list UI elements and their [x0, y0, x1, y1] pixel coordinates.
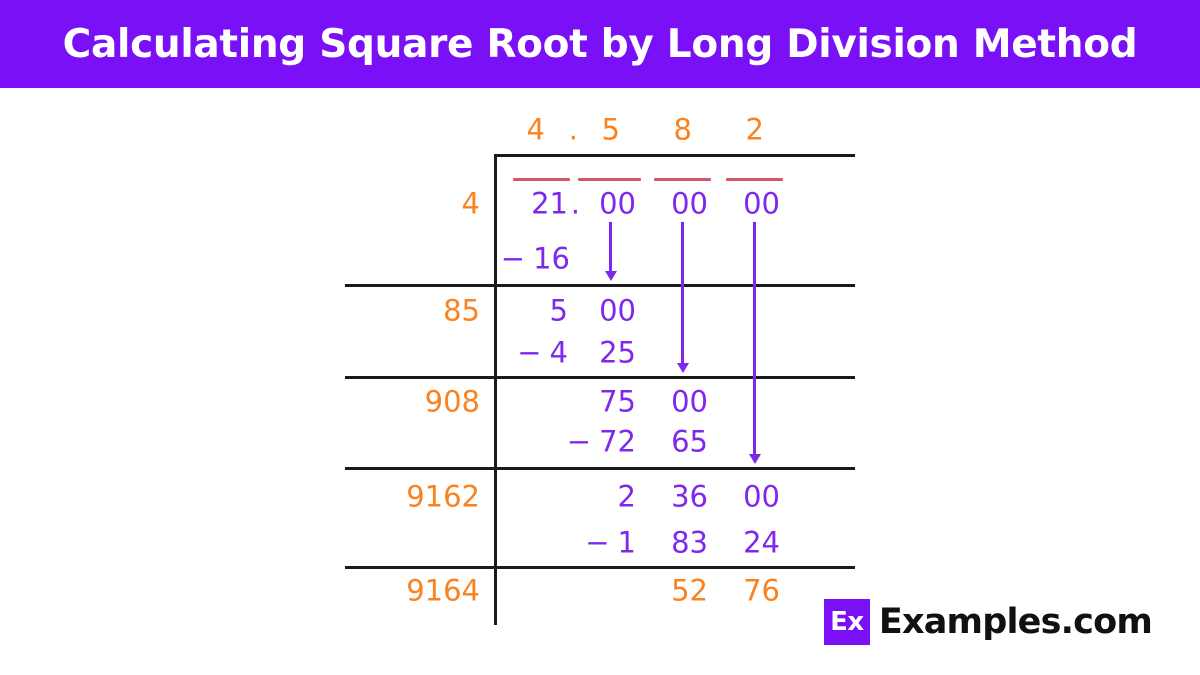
step-2-subtrahend-c2: 25 — [578, 339, 636, 368]
step-2-remainder-c2: 00 — [578, 297, 636, 326]
step-4-subtrahend-c2: −1 — [572, 529, 636, 558]
step-2-minus-sign: − — [517, 336, 541, 370]
digit-pair-overbar-2 — [578, 178, 641, 181]
step-4-subtrahend-c4: 24 — [722, 529, 780, 558]
bring-down-arrow-2 — [681, 222, 684, 364]
step-rule-2 — [345, 376, 855, 379]
digit-pair-overbar-1 — [513, 178, 570, 181]
step-4-minus-sign: − — [585, 526, 609, 560]
logo-wordmark: Examples.com — [879, 602, 1152, 642]
long-division-worksheet: 4 . 5 8 2 21 . 00 00 00 4 85 908 9162 91… — [0, 88, 1200, 675]
digit-pair-overbar-4 — [726, 178, 783, 181]
final-remainder-c4: 76 — [722, 577, 780, 606]
step-rule-4 — [345, 566, 855, 569]
step-4-subtrahend-value: 1 — [618, 526, 636, 560]
dividend-group-2: 00 — [578, 190, 636, 219]
dividend-group-3: 00 — [650, 190, 708, 219]
step-4-remainder-c3: 36 — [650, 483, 708, 512]
divisor-step-5: 9164 — [360, 577, 480, 606]
divisor-step-4: 9162 — [360, 483, 480, 512]
quotient-digit-2: 5 — [580, 116, 620, 145]
digit-pair-overbar-3 — [654, 178, 711, 181]
step-1-subtrahend: −16 — [495, 245, 570, 274]
bring-down-arrow-1 — [609, 222, 612, 272]
final-remainder-c3: 52 — [650, 577, 708, 606]
quotient-digit-3: 8 — [652, 116, 692, 145]
page-title: Calculating Square Root by Long Division… — [63, 22, 1138, 67]
header-banner: Calculating Square Root by Long Division… — [0, 0, 1200, 88]
step-3-remainder-c2: 75 — [578, 388, 636, 417]
division-bracket-vertical-rule — [494, 154, 497, 625]
step-3-subtrahend-c2: −72 — [565, 428, 636, 457]
division-bracket-top-rule — [494, 154, 855, 157]
step-rule-3 — [345, 467, 855, 470]
step-3-subtrahend-value: 72 — [599, 425, 636, 459]
bring-down-arrow-3 — [753, 222, 756, 455]
quotient-decimal-point: . — [558, 116, 578, 145]
step-2-subtrahend-c1: −4 — [495, 339, 568, 368]
page-root: Calculating Square Root by Long Division… — [0, 0, 1200, 675]
quotient-digit-1: 4 — [505, 116, 545, 145]
logo-mark-icon: Ex — [824, 599, 870, 645]
quotient-digit-4: 2 — [724, 116, 764, 145]
step-3-subtrahend-c3: 65 — [650, 428, 708, 457]
step-2-remainder-c1: 5 — [510, 297, 568, 326]
step-3-remainder-c3: 00 — [650, 388, 708, 417]
step-4-subtrahend-c3: 83 — [650, 529, 708, 558]
step-4-remainder-c4: 00 — [722, 483, 780, 512]
examples-logo[interactable]: Ex Examples.com — [824, 599, 1152, 645]
dividend-group-4: 00 — [722, 190, 780, 219]
step-2-subtrahend-value: 4 — [550, 336, 568, 370]
step-1-minus-sign: − — [501, 242, 525, 276]
step-3-minus-sign: − — [567, 425, 591, 459]
step-1-subtrahend-value: 16 — [533, 242, 570, 276]
divisor-step-2: 85 — [360, 297, 480, 326]
step-rule-1 — [345, 284, 855, 287]
divisor-step-1: 4 — [360, 190, 480, 219]
divisor-step-3: 908 — [360, 388, 480, 417]
dividend-decimal-point: . — [558, 190, 580, 219]
step-4-remainder-c2: 2 — [578, 483, 636, 512]
